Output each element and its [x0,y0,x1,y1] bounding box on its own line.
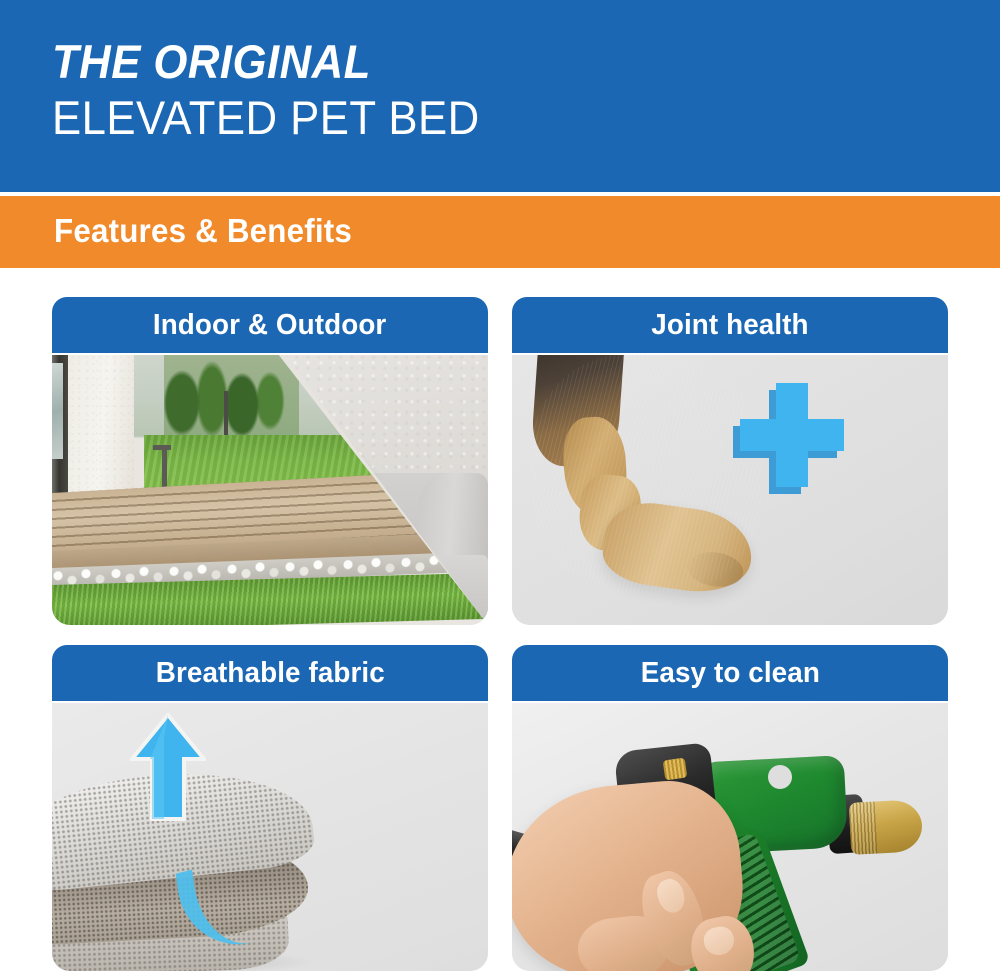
card-title-indoor-outdoor: Indoor & Outdoor [153,309,386,342]
dog-paw [599,497,757,599]
medical-plus-icon [740,383,844,487]
section-title: Features & Benefits [54,212,352,250]
feature-card-grid: Indoor & Outdoor [0,268,1000,977]
brass-nozzle-tip [849,799,924,855]
card-header-easy-to-clean: Easy to clean [512,645,948,701]
airflow-arrow-up-icon [130,713,206,821]
section-band: Features & Benefits [0,196,1000,268]
door-frame [52,355,68,497]
card-header-breathable-fabric: Breathable fabric [52,645,488,701]
door-glass [52,363,63,459]
mesh-fabric-airflow-photo [52,703,488,971]
garden-hose-nozzle-photo [512,703,948,971]
card-header-joint-health: Joint health [512,297,948,353]
card-title-joint-health: Joint health [651,309,808,342]
plus-icon-face [740,383,844,487]
title-line-original: THE ORIGINAL [52,38,480,85]
feature-card-indoor-outdoor: Indoor & Outdoor [52,297,488,625]
feature-card-joint-health: Joint health [512,297,948,625]
product-infographic: THE ORIGINAL ELEVATED PET BED Features &… [0,0,1000,977]
deck-post [162,445,167,487]
card-image-breathable-fabric [52,703,488,971]
card-header-indoor-outdoor: Indoor & Outdoor [52,297,488,353]
feature-card-breathable-fabric: Breathable fabric [52,645,488,971]
title-band: THE ORIGINAL ELEVATED PET BED [0,0,1000,192]
brass-adjust-screw [663,758,688,781]
card-image-indoor-outdoor [52,355,488,625]
card-title-breathable-fabric: Breathable fabric [155,657,384,690]
feature-card-easy-to-clean: Easy to clean [512,645,948,971]
indoor-outdoor-split-photo [52,355,488,625]
card-title-easy-to-clean: Easy to clean [640,657,819,690]
house-wall [64,355,134,507]
card-image-easy-to-clean [512,703,948,971]
title-line-product: ELEVATED PET BED [52,94,480,141]
dog-leg-paw-photo [512,355,948,625]
card-image-joint-health [512,355,948,625]
page-title: THE ORIGINAL ELEVATED PET BED [52,38,512,141]
nozzle-hanging-hole [768,765,792,789]
